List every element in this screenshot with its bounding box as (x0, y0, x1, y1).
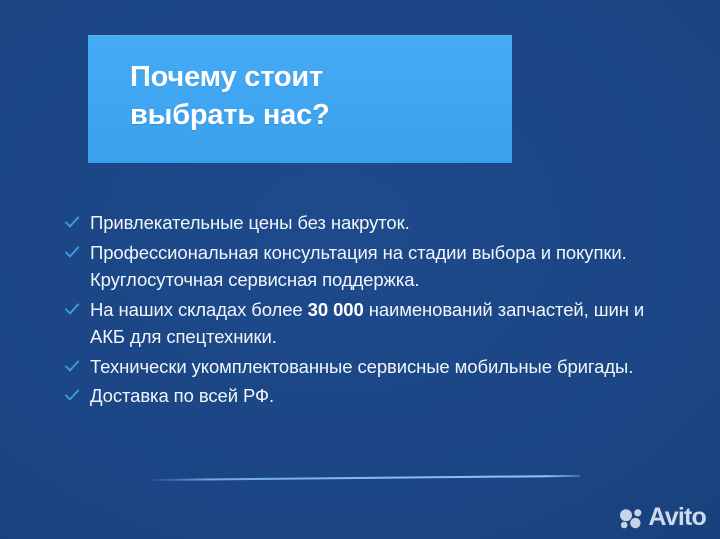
divider-line (150, 475, 580, 481)
list-item-label: Привлекательные цены без накруток. (90, 212, 410, 233)
check-icon (64, 358, 80, 374)
avito-wordmark: Avito (648, 505, 706, 530)
title-banner: Почему стоит выбрать нас? (88, 35, 512, 163)
check-icon (64, 301, 80, 317)
emphasis-text: 30 000 (308, 299, 364, 320)
list-item-label: На наших складах более 30 000 наименован… (90, 299, 644, 348)
slide-canvas: Почему стоит выбрать нас? Привлекательны… (0, 0, 720, 539)
avito-dots-icon (619, 507, 645, 529)
list-item-label: Технически укомплектованные сервисные мо… (90, 356, 633, 377)
list-item-label: Профессиональная консультация на стадии … (90, 242, 627, 291)
avito-watermark: Avito (619, 505, 706, 530)
list-item: На наших складах более 30 000 наименован… (62, 296, 672, 351)
list-item-label: Доставка по всей РФ. (90, 385, 274, 406)
list-item: Профессиональная консультация на стадии … (62, 239, 672, 294)
check-icon (64, 214, 80, 230)
check-icon (64, 387, 80, 403)
benefits-list: Привлекательные цены без накруток.Профес… (62, 209, 672, 412)
list-item: Технически укомплектованные сервисные мо… (62, 353, 672, 381)
check-icon (64, 244, 80, 260)
list-item: Доставка по всей РФ. (62, 382, 672, 410)
list-item: Привлекательные цены без накруток. (62, 209, 672, 237)
page-title: Почему стоит выбрать нас? (130, 59, 490, 134)
